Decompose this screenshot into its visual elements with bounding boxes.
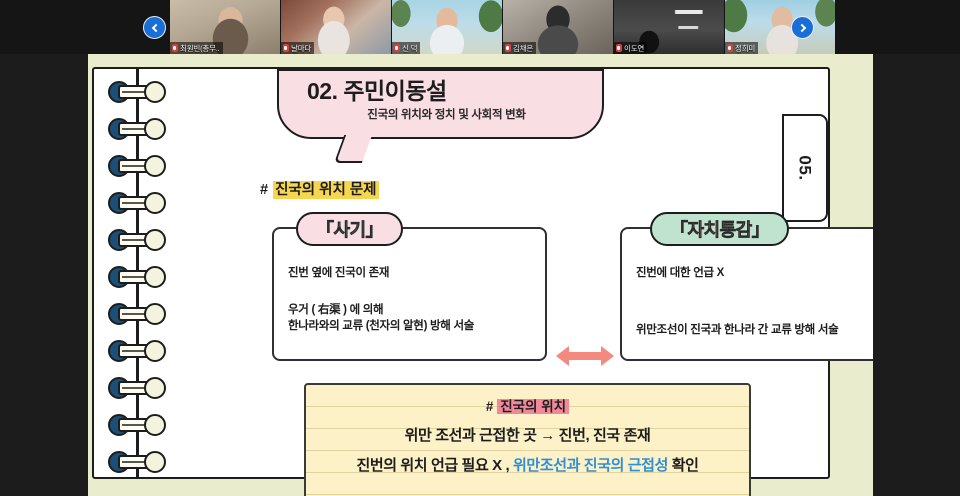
video-tile[interactable]: 최원빈(총무.. bbox=[170, 0, 280, 54]
participant-nameplate: 신 덕 bbox=[392, 42, 420, 54]
participant-name: 날마다 bbox=[291, 43, 311, 54]
participant-nameplate: 정희미 bbox=[725, 42, 758, 54]
video-tile[interactable]: 날마다 bbox=[281, 0, 391, 54]
hash-marker: # bbox=[486, 399, 494, 414]
summary-line-2: 진번의 위치 언급 필요 X , 위만조선과 진국의 근접성 확인 bbox=[314, 454, 741, 475]
participant-nameplate: 날마다 bbox=[281, 42, 314, 54]
summary-heading: # 진국의 위치 bbox=[314, 395, 741, 415]
summary-note-card: # 진국의 위치 위만 조선과 근접한 곳 → 진번, 진국 존재 진번의 위치… bbox=[304, 383, 751, 496]
video-tile[interactable]: 정희미 bbox=[725, 0, 835, 54]
chevron-right-icon bbox=[797, 23, 805, 31]
video-tile[interactable]: 김채은 bbox=[503, 0, 613, 54]
spiral-ring bbox=[108, 118, 166, 140]
page-subtitle: 진국의 위치와 정치 및 사회적 변화 bbox=[307, 106, 586, 122]
participant-name: 정희미 bbox=[735, 43, 755, 54]
participant-name: 최원빈(총무.. bbox=[180, 43, 220, 54]
mic-muted-icon bbox=[283, 44, 289, 52]
mic-muted-icon bbox=[616, 44, 622, 52]
shared-slide: 05. 02. 주민이동설 진국의 위치와 정치 및 사회적 변화 # 진국의 … bbox=[88, 54, 873, 496]
spiral-ring bbox=[108, 303, 166, 325]
section-heading: # 진국의 위치 문제 bbox=[260, 181, 379, 199]
video-tile[interactable]: 이도연 bbox=[614, 0, 724, 54]
source-line: 한나라와의 교류 (천자의 알현) 방해 서술 bbox=[288, 318, 535, 335]
page-title: 02. 주민이동설 bbox=[307, 79, 586, 103]
source-line: 진번에 대한 언급 X bbox=[636, 265, 873, 282]
participant-name: 김채은 bbox=[513, 43, 533, 54]
next-participants-button[interactable] bbox=[791, 16, 814, 39]
section-heading-text: 진국의 위치 문제 bbox=[273, 181, 378, 199]
participant-name: 이도연 bbox=[624, 43, 644, 54]
summary-line-2-prefix: 진번의 위치 언급 필요 X , bbox=[356, 457, 513, 474]
slide-content: 02. 주민이동설 진국의 위치와 정치 및 사회적 변화 # 진국의 위치 문… bbox=[180, 69, 782, 477]
source-title-badge: 「사기」 bbox=[296, 212, 403, 246]
spiral-ring bbox=[108, 192, 166, 214]
summary-line-2-suffix: 확인 bbox=[668, 457, 699, 474]
app-root: 최원빈(총무.. 날마다 신 덕 김채은 bbox=[0, 0, 960, 496]
source-card-body: 진번 옆에 진국이 존재 우거 ( 右渠 ) 에 의해 한나라와의 교류 (천자… bbox=[288, 265, 535, 335]
spiral-binding bbox=[94, 69, 180, 477]
summary-line-2-emphasis: 위만조선과 진국의 근접성 bbox=[513, 457, 668, 474]
source-line: 우거 ( 右渠 ) 에 의해 bbox=[288, 302, 535, 319]
hash-marker: # bbox=[260, 182, 268, 198]
source-line: 진번 옆에 진국이 존재 bbox=[288, 265, 535, 282]
source-card-body: 진번에 대한 언급 X 위만조선이 진국과 한나라 간 교류 방해 서술 bbox=[636, 265, 873, 338]
participant-name: 신 덕 bbox=[402, 43, 417, 54]
participant-nameplate: 이도연 bbox=[614, 42, 647, 54]
spiral-ring bbox=[108, 451, 166, 473]
source-title-badge: 「자치통감」 bbox=[650, 212, 789, 246]
spiral-ring bbox=[108, 377, 166, 399]
mic-muted-icon bbox=[727, 44, 733, 52]
participant-nameplate: 김채은 bbox=[503, 42, 536, 54]
mic-muted-icon bbox=[394, 44, 400, 52]
source-line: 위만조선이 진국과 한나라 간 교류 방해 서술 bbox=[636, 322, 873, 339]
spiral-ring bbox=[108, 155, 166, 177]
spacer bbox=[636, 282, 873, 302]
page-number: 05. bbox=[795, 155, 815, 180]
summary-line-1: 위만 조선과 근접한 곳 → 진번, 진국 존재 bbox=[314, 424, 741, 445]
spacer bbox=[636, 302, 873, 322]
video-filmstrip: 최원빈(총무.. 날마다 신 덕 김채은 bbox=[0, 0, 960, 54]
spiral-ring bbox=[108, 266, 166, 288]
spacer bbox=[288, 282, 535, 302]
source-card-sagi: 「사기」 진번 옆에 진국이 존재 우거 ( 右渠 ) 에 의해 한나라와의 교… bbox=[272, 227, 547, 361]
notebook-page: 05. 02. 주민이동설 진국의 위치와 정치 및 사회적 변화 # 진국의 … bbox=[92, 67, 830, 479]
page-number-tab: 05. bbox=[782, 114, 828, 222]
spiral-ring bbox=[108, 340, 166, 362]
slide-title-bubble: 02. 주민이동설 진국의 위치와 정치 및 사회적 변화 bbox=[277, 69, 604, 139]
source-card-jachitonggam: 「자치통감」 진번에 대한 언급 X 위만조선이 진국과 한나라 간 교류 방해… bbox=[620, 227, 873, 361]
previous-participants-button[interactable] bbox=[143, 16, 166, 39]
chevron-left-icon bbox=[151, 23, 159, 31]
mic-muted-icon bbox=[505, 44, 511, 52]
mic-muted-icon bbox=[172, 44, 178, 52]
spiral-ring bbox=[108, 229, 166, 251]
video-tile[interactable]: 신 덕 bbox=[392, 0, 502, 54]
participant-nameplate: 최원빈(총무.. bbox=[170, 42, 223, 54]
spiral-ring bbox=[108, 414, 166, 436]
spiral-ring bbox=[108, 81, 166, 103]
double-arrow-icon bbox=[555, 343, 615, 369]
summary-heading-text: 진국의 위치 bbox=[497, 399, 569, 414]
